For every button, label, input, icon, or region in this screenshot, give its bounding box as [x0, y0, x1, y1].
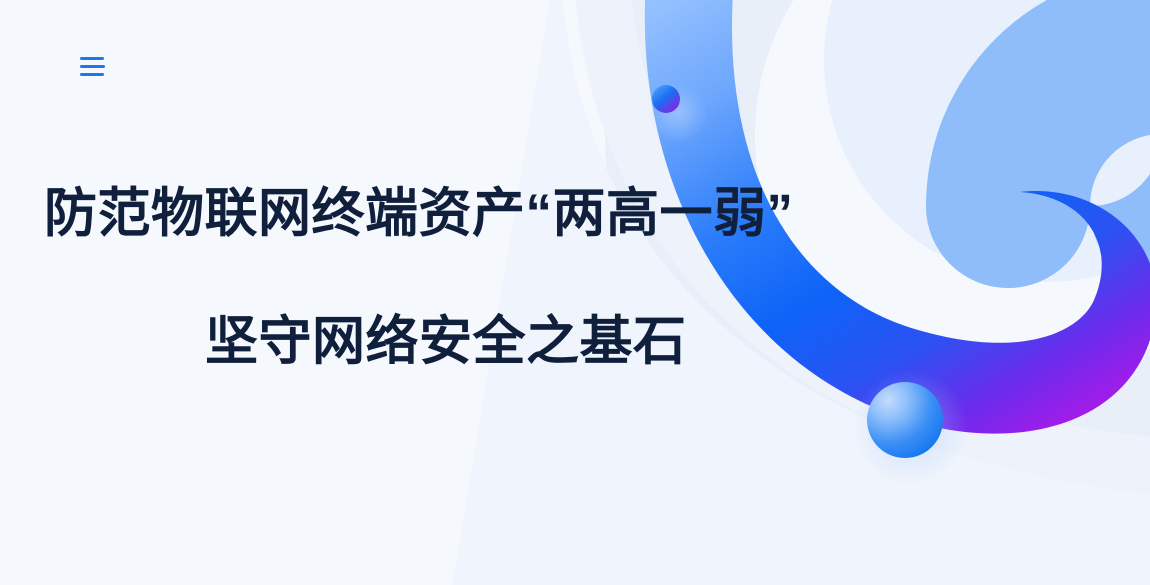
slide-root: 防范物联网终端资产“两高一弱” 坚守网络安全之基石	[0, 0, 1150, 585]
hamburger-menu-icon-bar-3	[80, 73, 104, 76]
hero-title-line-1: 防范物联网终端资产“两高一弱”	[0, 186, 880, 242]
hamburger-menu-button[interactable]	[80, 48, 116, 84]
hero-title-line-2: 坚守网络安全之基石	[0, 314, 880, 370]
hamburger-menu-icon-bar-1	[80, 57, 104, 60]
small-gradient-sphere	[648, 83, 708, 143]
hero-title: 防范物联网终端资产“两高一弱” 坚守网络安全之基石	[0, 186, 880, 369]
light-blue-crescent	[926, 0, 1150, 300]
hamburger-menu-icon-bar-2	[80, 65, 105, 68]
large-blue-sphere	[852, 370, 968, 486]
